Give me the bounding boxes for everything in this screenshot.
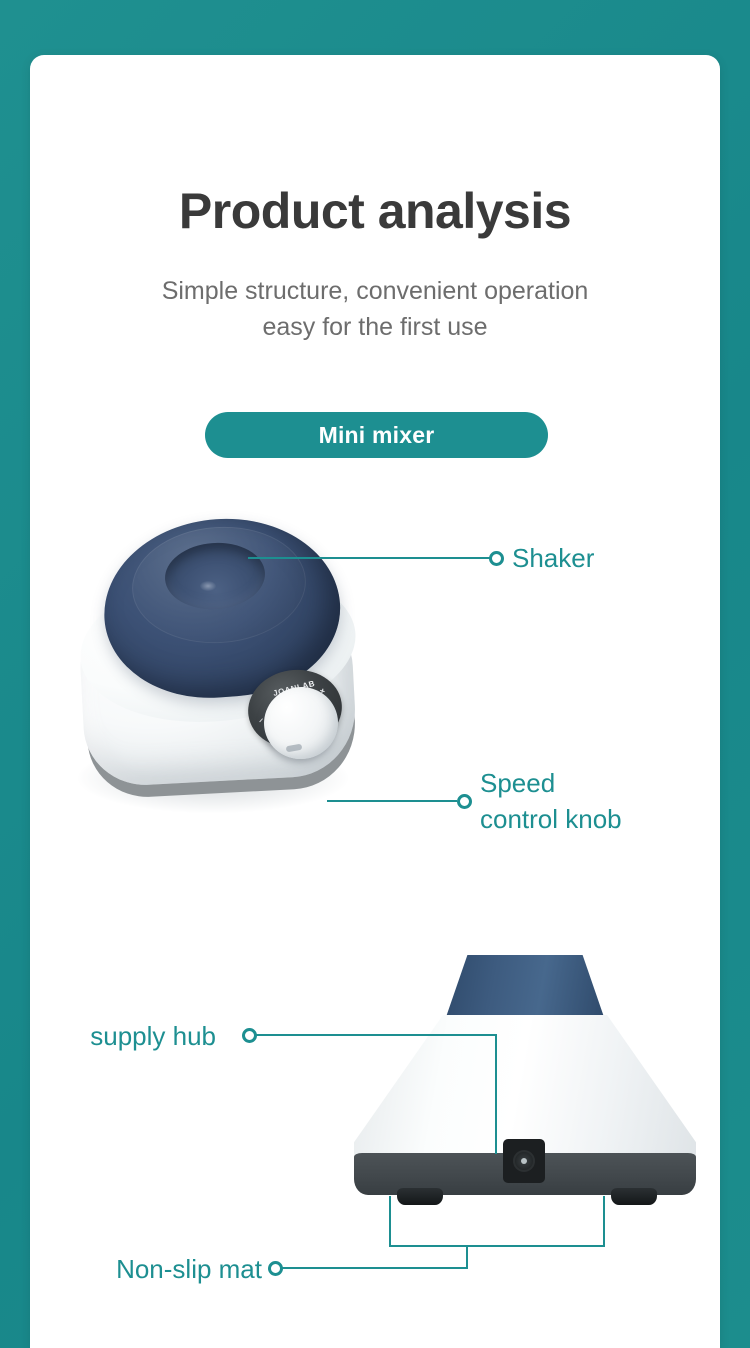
callout-label-speed-line1: Speed <box>480 765 622 801</box>
content-card: Product analysis Simple structure, conve… <box>30 55 720 1348</box>
page-subtitle: Simple structure, convenient operation e… <box>30 273 720 345</box>
supply-hub-leader-dot <box>242 1028 257 1043</box>
non-slip-leader-bridge <box>389 1245 605 1247</box>
non-slip-leader-dot <box>268 1261 283 1276</box>
non-slip-foot-right <box>611 1188 657 1205</box>
mixer-rear-view <box>340 935 700 1265</box>
non-slip-foot-left <box>397 1188 443 1205</box>
shaker-leader-line <box>248 557 498 559</box>
non-slip-leader-horizontal <box>282 1267 468 1269</box>
supply-hub-leader-horizontal <box>256 1034 497 1036</box>
infographic-page: Product analysis Simple structure, conve… <box>0 0 750 1348</box>
subtitle-line-1: Simple structure, convenient operation <box>30 273 720 309</box>
non-slip-leader-right-vertical <box>603 1196 605 1247</box>
callout-label-supply-hub: supply hub <box>56 1018 216 1054</box>
speed-knob-leader-dot <box>457 794 472 809</box>
callout-label-shaker: Shaker <box>512 540 594 576</box>
page-title: Product analysis <box>30 182 720 240</box>
callout-label-speed-line2: control knob <box>480 801 622 837</box>
mixer-three-quarter-view: JOANLAB – + <box>50 505 390 845</box>
subtitle-line-2: easy for the first use <box>30 309 720 345</box>
speed-knob-leader-line <box>327 800 457 802</box>
shaker-leader-dot <box>489 551 504 566</box>
non-slip-leader-drop <box>466 1245 468 1269</box>
supply-hub-leader-vertical <box>495 1034 497 1154</box>
power-supply-hub <box>503 1139 545 1183</box>
shaker-cup-highlight <box>200 581 216 591</box>
non-slip-leader-left-vertical <box>389 1196 391 1247</box>
rear-shaker-cap <box>445 955 605 1020</box>
product-name-badge: Mini mixer <box>205 412 548 458</box>
callout-label-speed: Speed control knob <box>480 765 622 837</box>
power-jack-pin <box>521 1158 527 1164</box>
callout-label-non-slip-mat: Non-slip mat <box>68 1251 262 1287</box>
